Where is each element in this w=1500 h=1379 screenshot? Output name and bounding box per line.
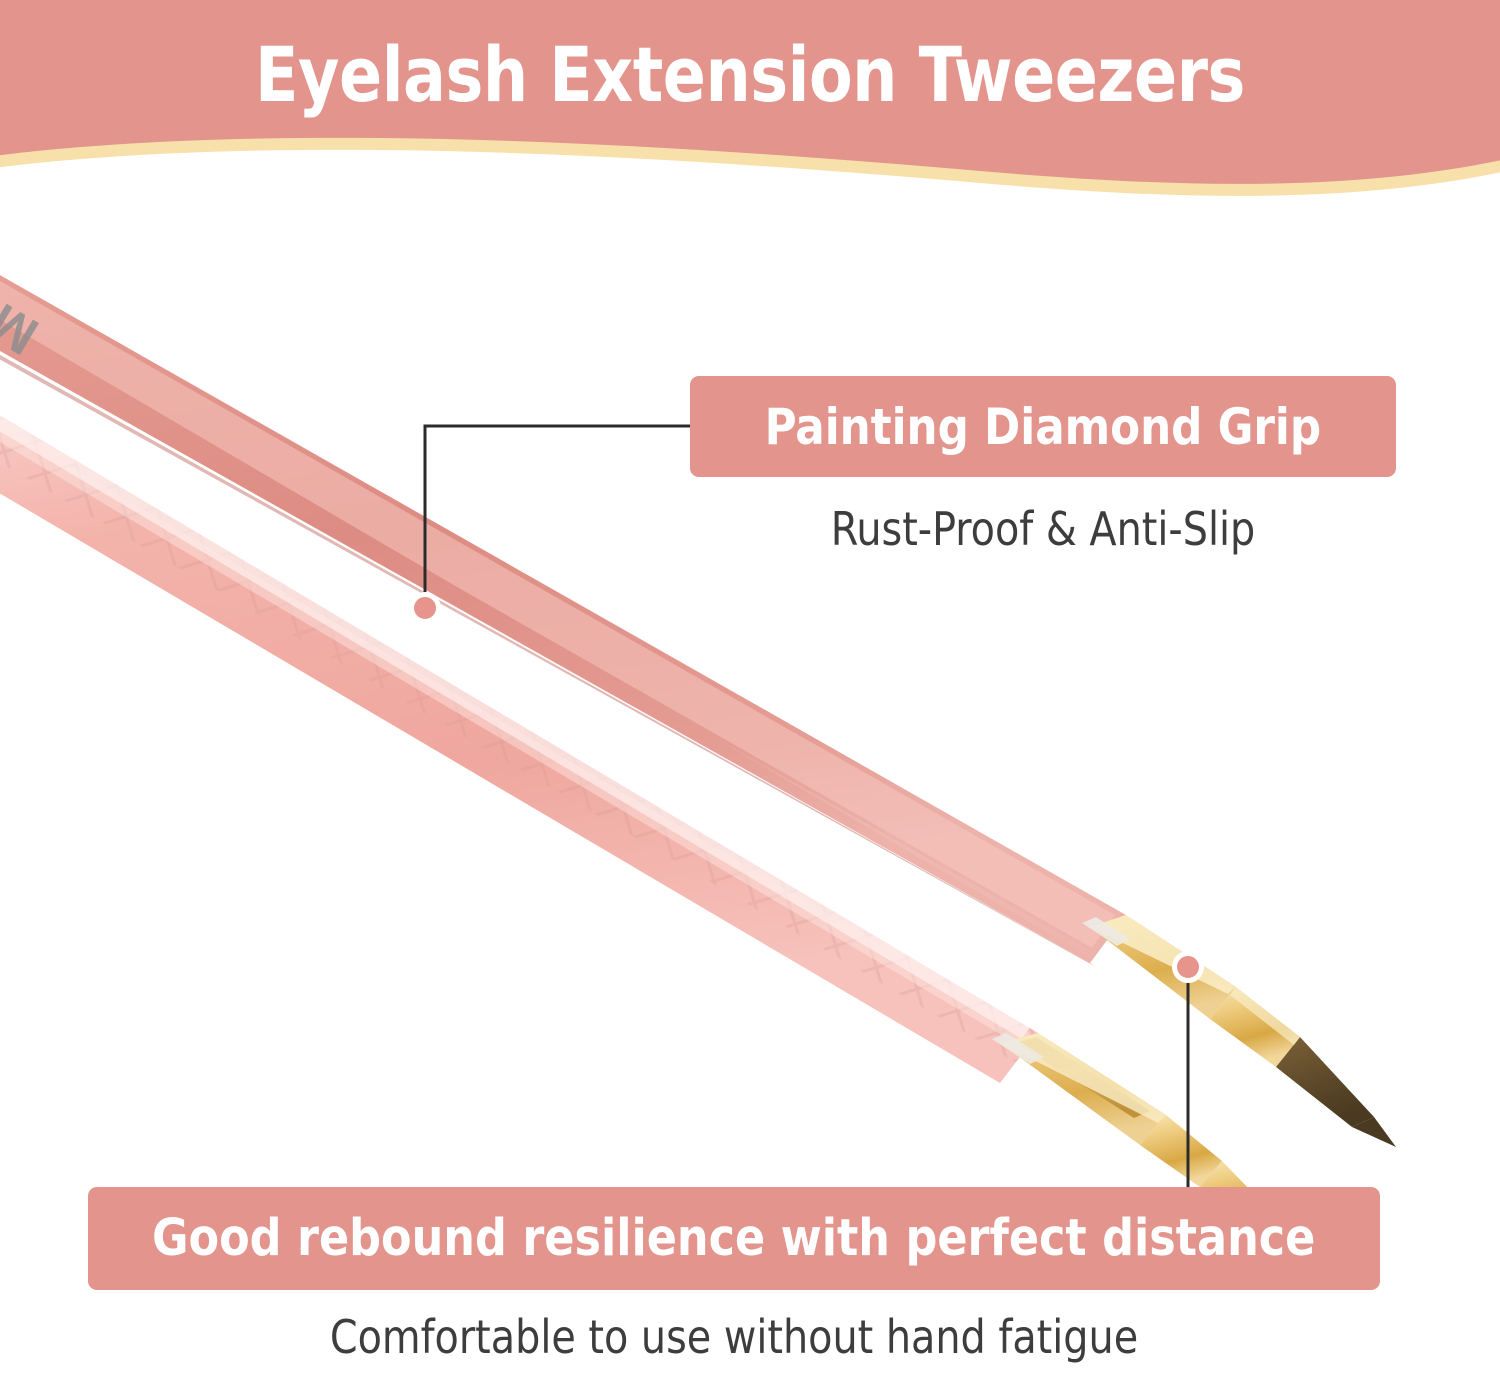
header-band: Eyelash Extension Tweezers xyxy=(0,0,1500,215)
callout-rebound-label: Good rebound resilience with perfect dis… xyxy=(152,1210,1315,1267)
callout-grip-box: Painting Diamond Grip xyxy=(690,376,1396,477)
product-infographic: Eyelash Extension Tweezers xyxy=(0,0,1500,1379)
tweezer-upper-arm xyxy=(0,215,1126,989)
callout-rebound-subtitle: Comfortable to use without hand fatigue xyxy=(114,1310,1354,1364)
diamond-grip-marker xyxy=(409,592,441,624)
product-image: Ms. xyxy=(0,215,1500,1215)
callout-grip-subtitle: Rust-Proof & Anti-Slip xyxy=(704,502,1382,556)
tweezers-illustration: Ms. xyxy=(0,215,1500,1215)
tip-distance-marker xyxy=(1172,951,1204,983)
callout-grip-label: Painting Diamond Grip xyxy=(765,399,1321,455)
callout-rebound-box: Good rebound resilience with perfect dis… xyxy=(88,1187,1380,1290)
page-title: Eyelash Extension Tweezers xyxy=(53,33,1448,117)
